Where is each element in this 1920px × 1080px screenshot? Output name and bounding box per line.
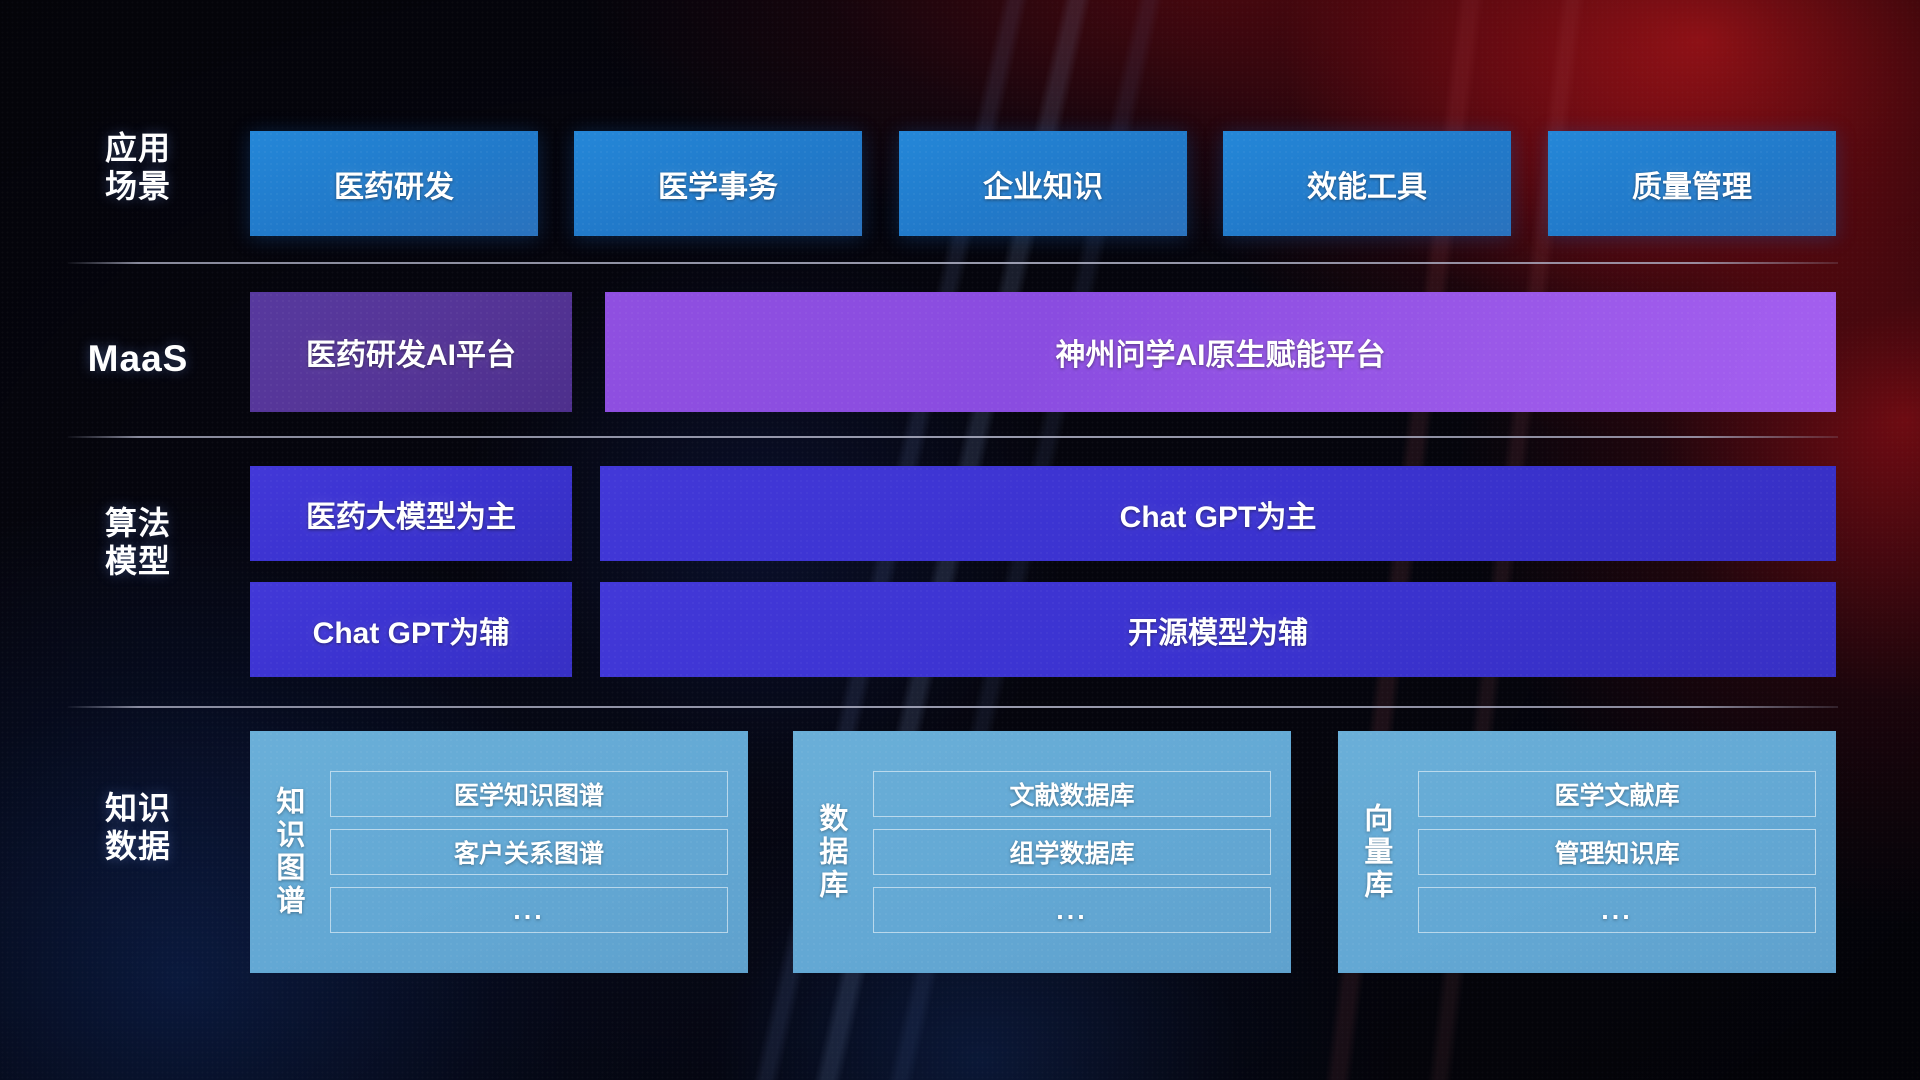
algo-box-chatgpt-secondary[interactable]: Chat GPT为辅	[250, 582, 572, 677]
app-box-medical-affairs[interactable]: 医学事务	[574, 131, 862, 236]
algo-box-medicine-llm-primary[interactable]: 医药大模型为主	[250, 466, 572, 561]
knowledge-item-label: 管理知识库	[1554, 834, 1679, 870]
app-box-enterprise-knowledge[interactable]: 企业知识	[899, 131, 1187, 236]
algo-box-label: 医药大模型为主	[306, 492, 516, 536]
divider-application-maas	[68, 262, 1838, 264]
knowledge-panel-vector-items: 医学文献库 管理知识库 ...	[1412, 731, 1836, 973]
row-label-application: 应用场景	[68, 130, 208, 206]
knowledge-item-label: 医学文献库	[1554, 776, 1679, 812]
maas-box-shenzhou-wenxue-platform[interactable]: 神州问学AI原生赋能平台	[605, 292, 1836, 412]
maas-box-label: 医药研发AI平台	[306, 330, 516, 374]
knowledge-panel-label-text: 向量库	[1356, 803, 1394, 902]
knowledge-item[interactable]: 文献数据库	[873, 771, 1271, 817]
row-label-algorithm-text: 算法模型	[68, 505, 208, 581]
knowledge-panel-database[interactable]: 数据库 文献数据库 组学数据库 ...	[793, 731, 1291, 973]
row-label-maas-text: MaaS	[68, 337, 208, 381]
knowledge-panel-graph-label: 知识图谱	[250, 731, 324, 973]
knowledge-panel-label-text: 知识图谱	[268, 786, 306, 918]
app-box-label: 效能工具	[1307, 162, 1427, 206]
row-label-knowledge: 知识数据	[68, 790, 208, 866]
knowledge-panel-vector[interactable]: 向量库 医学文献库 管理知识库 ...	[1338, 731, 1836, 973]
knowledge-panel-database-label: 数据库	[793, 731, 867, 973]
row-label-algorithm: 算法模型	[68, 505, 208, 581]
knowledge-panel-label-text: 数据库	[811, 803, 849, 902]
algo-box-label: Chat GPT为辅	[313, 608, 510, 652]
app-box-efficiency-tools[interactable]: 效能工具	[1223, 131, 1511, 236]
app-box-label: 企业知识	[983, 162, 1103, 206]
algo-box-opensource-secondary[interactable]: 开源模型为辅	[600, 582, 1836, 677]
knowledge-item-more[interactable]: ...	[1418, 887, 1816, 933]
app-box-label: 质量管理	[1632, 162, 1752, 206]
knowledge-item-label: 组学数据库	[1009, 834, 1134, 870]
row-label-knowledge-text: 知识数据	[68, 790, 208, 866]
maas-box-label: 神州问学AI原生赋能平台	[1056, 330, 1386, 374]
knowledge-item-label: ...	[513, 895, 545, 926]
knowledge-item-more[interactable]: ...	[873, 887, 1271, 933]
knowledge-item-more[interactable]: ...	[330, 887, 728, 933]
knowledge-panel-graph[interactable]: 知识图谱 医学知识图谱 客户关系图谱 ...	[250, 731, 748, 973]
algo-box-chatgpt-primary[interactable]: Chat GPT为主	[600, 466, 1836, 561]
knowledge-item[interactable]: 客户关系图谱	[330, 829, 728, 875]
knowledge-panel-database-items: 文献数据库 组学数据库 ...	[867, 731, 1291, 973]
knowledge-item-label: 客户关系图谱	[454, 834, 604, 870]
knowledge-item-label: ...	[1056, 895, 1088, 926]
knowledge-item-label: ...	[1601, 895, 1633, 926]
knowledge-panel-graph-items: 医学知识图谱 客户关系图谱 ...	[324, 731, 748, 973]
maas-box-medicine-ai-platform[interactable]: 医药研发AI平台	[250, 292, 572, 412]
knowledge-item[interactable]: 医学文献库	[1418, 771, 1816, 817]
app-box-medicine-rd[interactable]: 医药研发	[250, 131, 538, 236]
knowledge-item-label: 文献数据库	[1009, 776, 1134, 812]
divider-maas-algorithm	[68, 436, 1838, 438]
algo-box-label: 开源模型为辅	[1128, 608, 1308, 652]
algo-box-label: Chat GPT为主	[1120, 492, 1317, 536]
row-label-maas: MaaS	[68, 337, 208, 381]
knowledge-item-label: 医学知识图谱	[454, 776, 604, 812]
knowledge-item[interactable]: 医学知识图谱	[330, 771, 728, 817]
knowledge-item[interactable]: 管理知识库	[1418, 829, 1816, 875]
app-box-label: 医药研发	[334, 162, 454, 206]
knowledge-panel-vector-label: 向量库	[1338, 731, 1412, 973]
divider-algorithm-knowledge	[68, 706, 1838, 708]
app-box-quality-management[interactable]: 质量管理	[1548, 131, 1836, 236]
app-box-label: 医学事务	[658, 162, 778, 206]
row-label-application-line1: 应用场景	[68, 130, 208, 206]
architecture-diagram: 应用场景 医药研发 医学事务 企业知识 效能工具 质量管理 MaaS 医药研发A…	[0, 0, 1920, 1080]
knowledge-item[interactable]: 组学数据库	[873, 829, 1271, 875]
